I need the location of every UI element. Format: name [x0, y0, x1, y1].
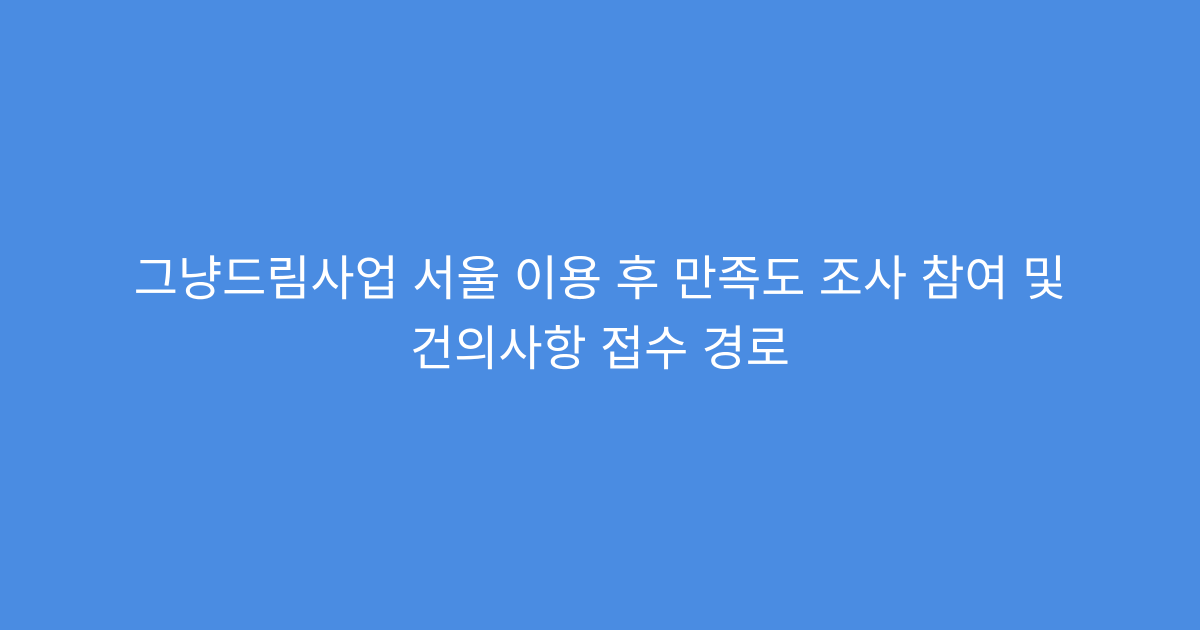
social-share-card: 그냥드림사업 서울 이용 후 만족도 조사 참여 및 건의사항 접수 경로	[0, 0, 1200, 630]
card-title: 그냥드림사업 서울 이용 후 만족도 조사 참여 및 건의사항 접수 경로	[95, 245, 1105, 385]
